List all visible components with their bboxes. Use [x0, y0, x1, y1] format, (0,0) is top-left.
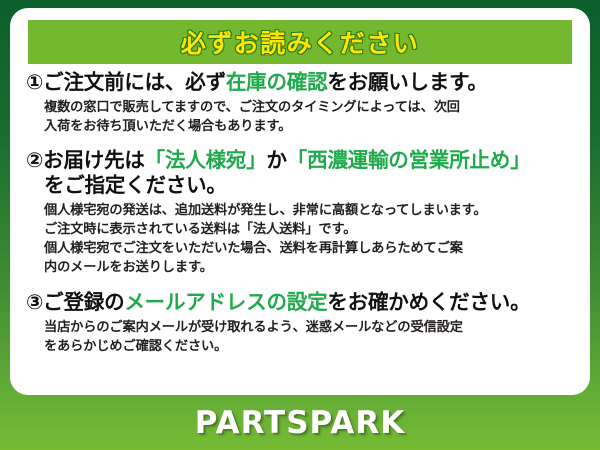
notice-item-1-body: 複数の窓口で販売してますので、ご注文のタイミングによっては、次回 入荷をお待ち頂… — [44, 98, 576, 135]
notice-item-3-body: 当店からのご案内メールが受け取れるよう、迷惑メールなどの受信設定 をあらかじめご… — [44, 318, 576, 355]
notice-list: ①ご注文前には、必ず在庫の確認をお願いします。 複数の窓口で販売してますので、ご… — [10, 70, 590, 358]
page-title: 必ずお読みください — [181, 24, 420, 60]
notice-item-2-heading: ②お届け先は「法人様宛」か「西濃運輸の営業所止め」 — [26, 148, 576, 173]
header-strip: 必ずお読みください — [28, 20, 572, 64]
item-1-body-line-2: 入荷をお待ち頂いただく場合もあります。 — [44, 117, 576, 136]
notice-item-3: ③ご登録のメールアドレスの設定をお確かめください。 当店からのご案内メールが受け… — [26, 290, 576, 355]
item-number-1: ① — [26, 71, 43, 94]
notice-item-1: ①ご注文前には、必ず在庫の確認をお願いします。 複数の窓口で販売してますので、ご… — [26, 70, 576, 135]
notice-item-2: ②お届け先は「法人様宛」か「西濃運輸の営業所止め」 をご指定ください。 個人様宅… — [26, 148, 576, 276]
footer: PARTSPARK — [0, 395, 600, 450]
item-2-heading-highlight-1: 「法人様宛」 — [145, 149, 267, 172]
item-2-heading-highlight-2: 「西濃運輸の営業所止め」 — [287, 149, 531, 172]
notice-item-3-heading: ③ご登録のメールアドレスの設定をお確かめください。 — [26, 290, 576, 315]
item-2-heading-part-1: お届け先は — [43, 149, 145, 172]
notice-item-2-heading-line2: をご指定ください。 — [44, 173, 576, 198]
item-3-heading-part-1: ご登録の — [43, 291, 124, 314]
item-3-heading-part-3: をお確かめください。 — [327, 291, 530, 314]
item-1-body-line-1: 複数の窓口で販売してますので、ご注文のタイミングによっては、次回 — [44, 98, 576, 117]
item-3-heading-highlight: メールアドレスの設定 — [124, 291, 327, 314]
item-1-heading-highlight: 在庫の確認 — [226, 71, 328, 94]
item-2-body-line-3: 個人様宅宛でご注文をいただいた場合、送料を再計算しあらためてご案 — [44, 239, 576, 258]
item-number-3: ③ — [26, 291, 43, 314]
notice-banner: 必ずお読みください ①ご注文前には、必ず在庫の確認をお願いします。 複数の窓口で… — [0, 0, 600, 450]
notice-item-2-body: 個人様宅宛の発送は、追加送料が発生し、非常に高額となってしまいます。 ご注文時に… — [44, 201, 576, 276]
item-3-body-line-1: 当店からのご案内メールが受け取れるよう、迷惑メールなどの受信設定 — [44, 318, 576, 337]
item-2-heading-part-3: か — [266, 149, 286, 172]
item-2-body-line-2: ご注文時に表示されている送料は「法人送料」です。 — [44, 220, 576, 239]
item-2-body-line-4: 内のメールをお送りします。 — [44, 258, 576, 277]
item-2-body-line-1: 個人様宅宛の発送は、追加送料が発生し、非常に高額となってしまいます。 — [44, 201, 576, 220]
brand-logo: PARTSPARK — [195, 405, 406, 441]
item-1-heading-part-3: をお願いします。 — [327, 71, 487, 94]
item-3-body-line-2: をあらかじめご確認ください。 — [44, 337, 576, 356]
item-number-2: ② — [26, 149, 43, 172]
notice-card: 必ずお読みください ①ご注文前には、必ず在庫の確認をお願いします。 複数の窓口で… — [10, 8, 590, 395]
item-1-heading-part-1: ご注文前には、必ず — [43, 71, 226, 94]
notice-item-1-heading: ①ご注文前には、必ず在庫の確認をお願いします。 — [26, 70, 576, 95]
